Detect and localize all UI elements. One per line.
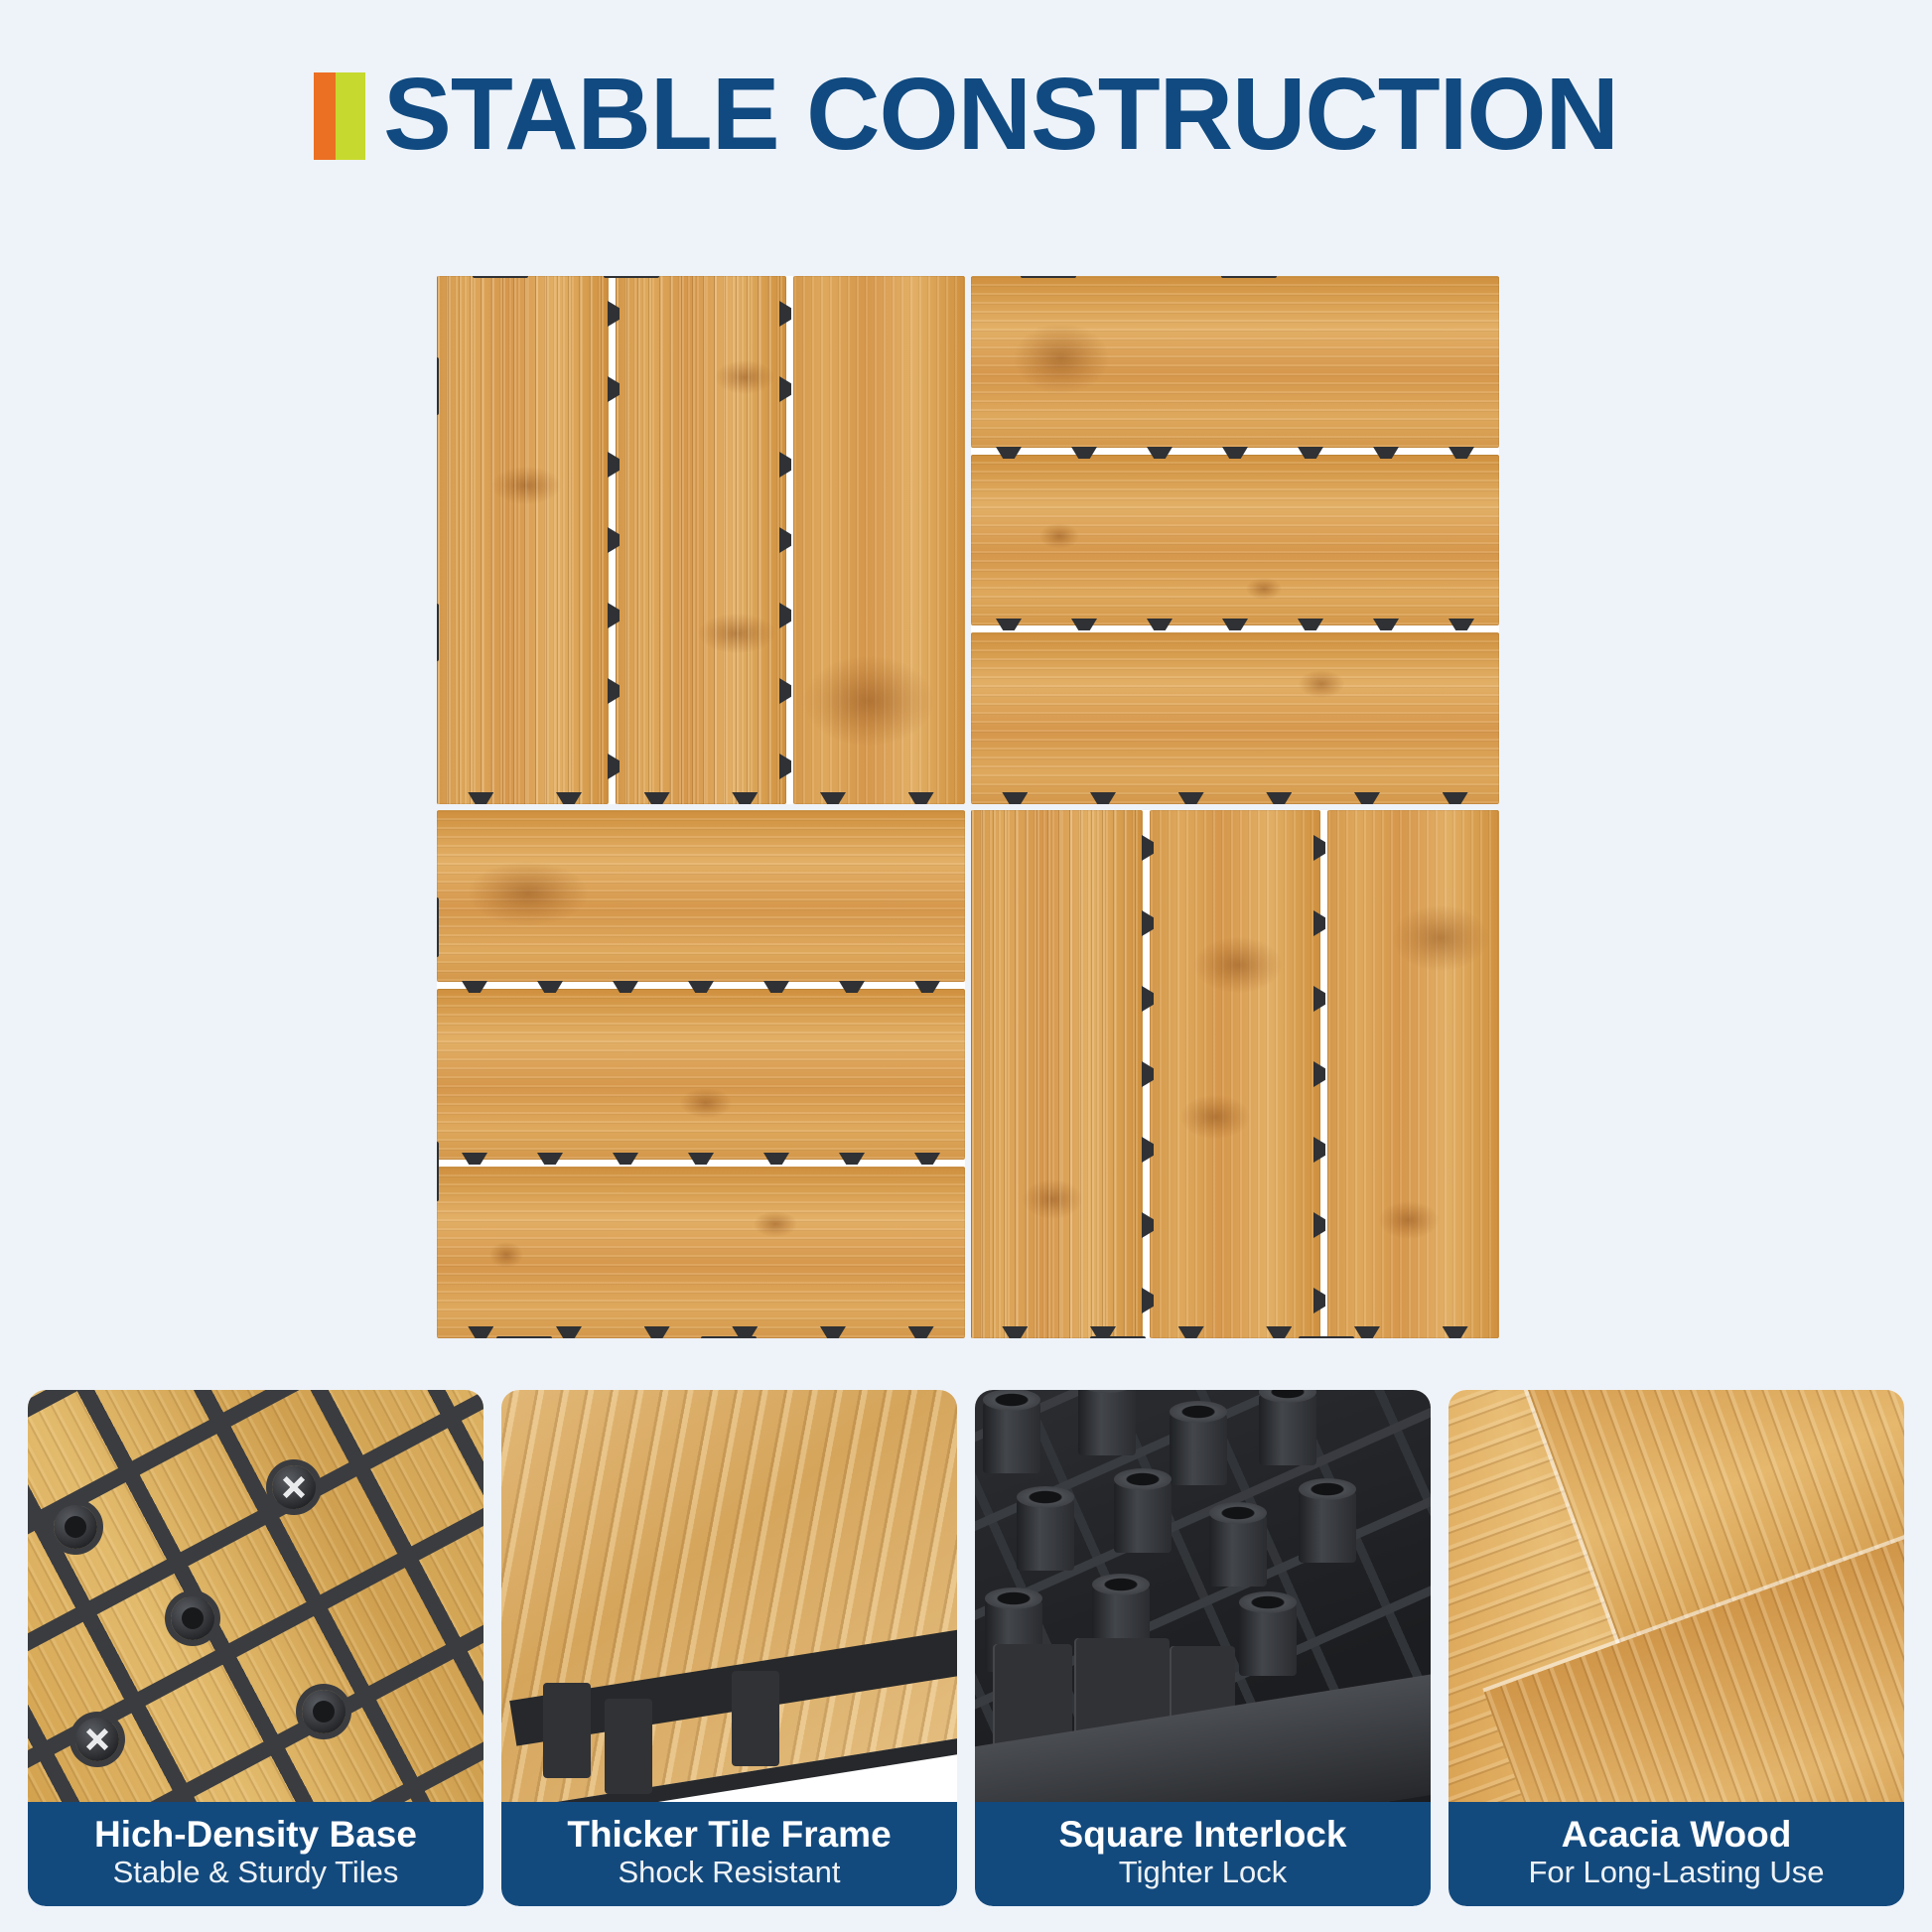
feature-subtitle: For Long-Lasting Use: [1454, 1855, 1898, 1890]
screw-icon: [75, 1718, 119, 1761]
wood-slat: [437, 989, 965, 1161]
feature-caption: Thicker Tile Frame Shock Resistant: [501, 1802, 957, 1906]
feature-card-high-density-base[interactable]: Hich-Density Base Stable & Sturdy Tiles: [28, 1390, 483, 1906]
interlock-lug: [1090, 1336, 1146, 1338]
feature-card-acacia-wood[interactable]: Acacia Wood For Long-Lasting Use: [1449, 1390, 1904, 1906]
wood-knot: [1246, 578, 1282, 600]
deck-tile-bottom-left: [437, 810, 965, 1338]
deck-tile-top-right: [971, 276, 1499, 804]
feature-title: Hich-Density Base: [34, 1814, 478, 1855]
feature-caption: Hich-Density Base Stable & Sturdy Tiles: [28, 1802, 483, 1906]
page-title: STABLE CONSTRUCTION: [383, 65, 1618, 165]
interlock-lug: [437, 897, 439, 957]
wood-knot: [491, 467, 561, 504]
screw-icon: [272, 1465, 316, 1509]
wood-slat: [437, 276, 609, 804]
wood-knot: [1379, 1201, 1439, 1239]
wood-knot: [754, 1211, 797, 1237]
slat-group-horizontal: [437, 810, 965, 1338]
interlock-lug: [1221, 276, 1277, 278]
high-density-base-image: [28, 1390, 483, 1802]
interlock-lug: [496, 1336, 552, 1338]
interlock-lug: [701, 1336, 757, 1338]
interlock-post: [1239, 1602, 1297, 1676]
slat-group-horizontal: [971, 276, 1499, 804]
interlock-lug: [437, 1142, 439, 1201]
wood-slat: [616, 276, 787, 804]
wood-knot: [1023, 1179, 1082, 1219]
feature-subtitle: Tighter Lock: [981, 1855, 1425, 1890]
feature-card-thicker-tile-frame[interactable]: Thicker Tile Frame Shock Resistant: [501, 1390, 957, 1906]
interlock-lug: [1299, 1336, 1354, 1338]
interlock-lug: [604, 276, 659, 278]
interlock-post: [1170, 1412, 1227, 1485]
wood-slat: [971, 276, 1499, 448]
page-header: STABLE CONSTRUCTION: [0, 0, 1932, 228]
screw-hole-icon: [171, 1596, 214, 1640]
interlock-lug: [437, 604, 439, 661]
interlock-post: [1299, 1489, 1356, 1563]
slat-group-vertical: [971, 810, 1499, 1338]
wood-knot: [680, 1088, 732, 1118]
wood-slat: [1150, 810, 1321, 1338]
wood-knot: [1014, 324, 1109, 393]
hero-product-image: [437, 276, 1499, 1338]
feature-subtitle: Stable & Sturdy Tiles: [34, 1855, 478, 1890]
deck-tile-top-left: [437, 276, 965, 804]
feature-title: Thicker Tile Frame: [507, 1814, 951, 1855]
accent-green-stripe: [336, 72, 365, 161]
interlock-lug: [473, 276, 528, 278]
title-accent-bar: [314, 72, 365, 161]
screw-hole-icon: [302, 1690, 345, 1733]
thicker-tile-frame-image: [501, 1390, 957, 1802]
slat-group-vertical: [437, 276, 965, 804]
screw-hole-icon: [54, 1505, 97, 1549]
frame-leg: [543, 1683, 591, 1778]
wood-slat: [437, 810, 965, 982]
wood-knot: [1180, 1095, 1250, 1139]
interlock-post: [1017, 1497, 1074, 1571]
wood-knot: [1039, 523, 1079, 549]
deck-tile-bottom-right: [971, 810, 1499, 1338]
frame-leg: [732, 1671, 779, 1766]
feature-subtitle: Shock Resistant: [507, 1855, 951, 1890]
interlock-lug: [437, 357, 439, 415]
feature-title: Acacia Wood: [1454, 1814, 1898, 1855]
wood-knot: [1299, 670, 1344, 698]
feature-caption: Square Interlock Tighter Lock: [975, 1802, 1431, 1906]
wood-slat: [437, 1167, 965, 1338]
wood-knot: [715, 360, 774, 394]
interlock-post: [1259, 1392, 1316, 1465]
deck-tile-grid: [437, 276, 1499, 1338]
wood-knot: [489, 1242, 523, 1268]
wood-slat: [971, 632, 1499, 804]
interlock-post: [1078, 1390, 1136, 1455]
square-interlock-image: [975, 1390, 1431, 1802]
wood-knot: [698, 614, 775, 653]
accent-orange-stripe: [314, 72, 336, 161]
frame-leg: [605, 1699, 652, 1794]
interlock-post: [983, 1400, 1040, 1473]
wood-slat: [793, 276, 965, 804]
wood-slat: [1327, 810, 1499, 1338]
wood-knot: [1194, 937, 1282, 993]
feature-title: Square Interlock: [981, 1814, 1425, 1855]
wood-slat: [971, 810, 1143, 1338]
acacia-wood-image: [1449, 1390, 1904, 1802]
interlock-lug: [1021, 276, 1076, 278]
feature-caption: Acacia Wood For Long-Lasting Use: [1449, 1802, 1904, 1906]
interlock-post: [1209, 1513, 1267, 1587]
wood-knot: [469, 862, 588, 925]
interlock-post: [1114, 1479, 1172, 1553]
wood-knot: [804, 656, 933, 746]
feature-card-square-interlock[interactable]: Square Interlock Tighter Lock: [975, 1390, 1431, 1906]
wood-knot: [1393, 905, 1488, 971]
feature-thumbnail-strip: Hich-Density Base Stable & Sturdy Tiles …: [28, 1390, 1904, 1906]
wood-slat: [971, 455, 1499, 626]
